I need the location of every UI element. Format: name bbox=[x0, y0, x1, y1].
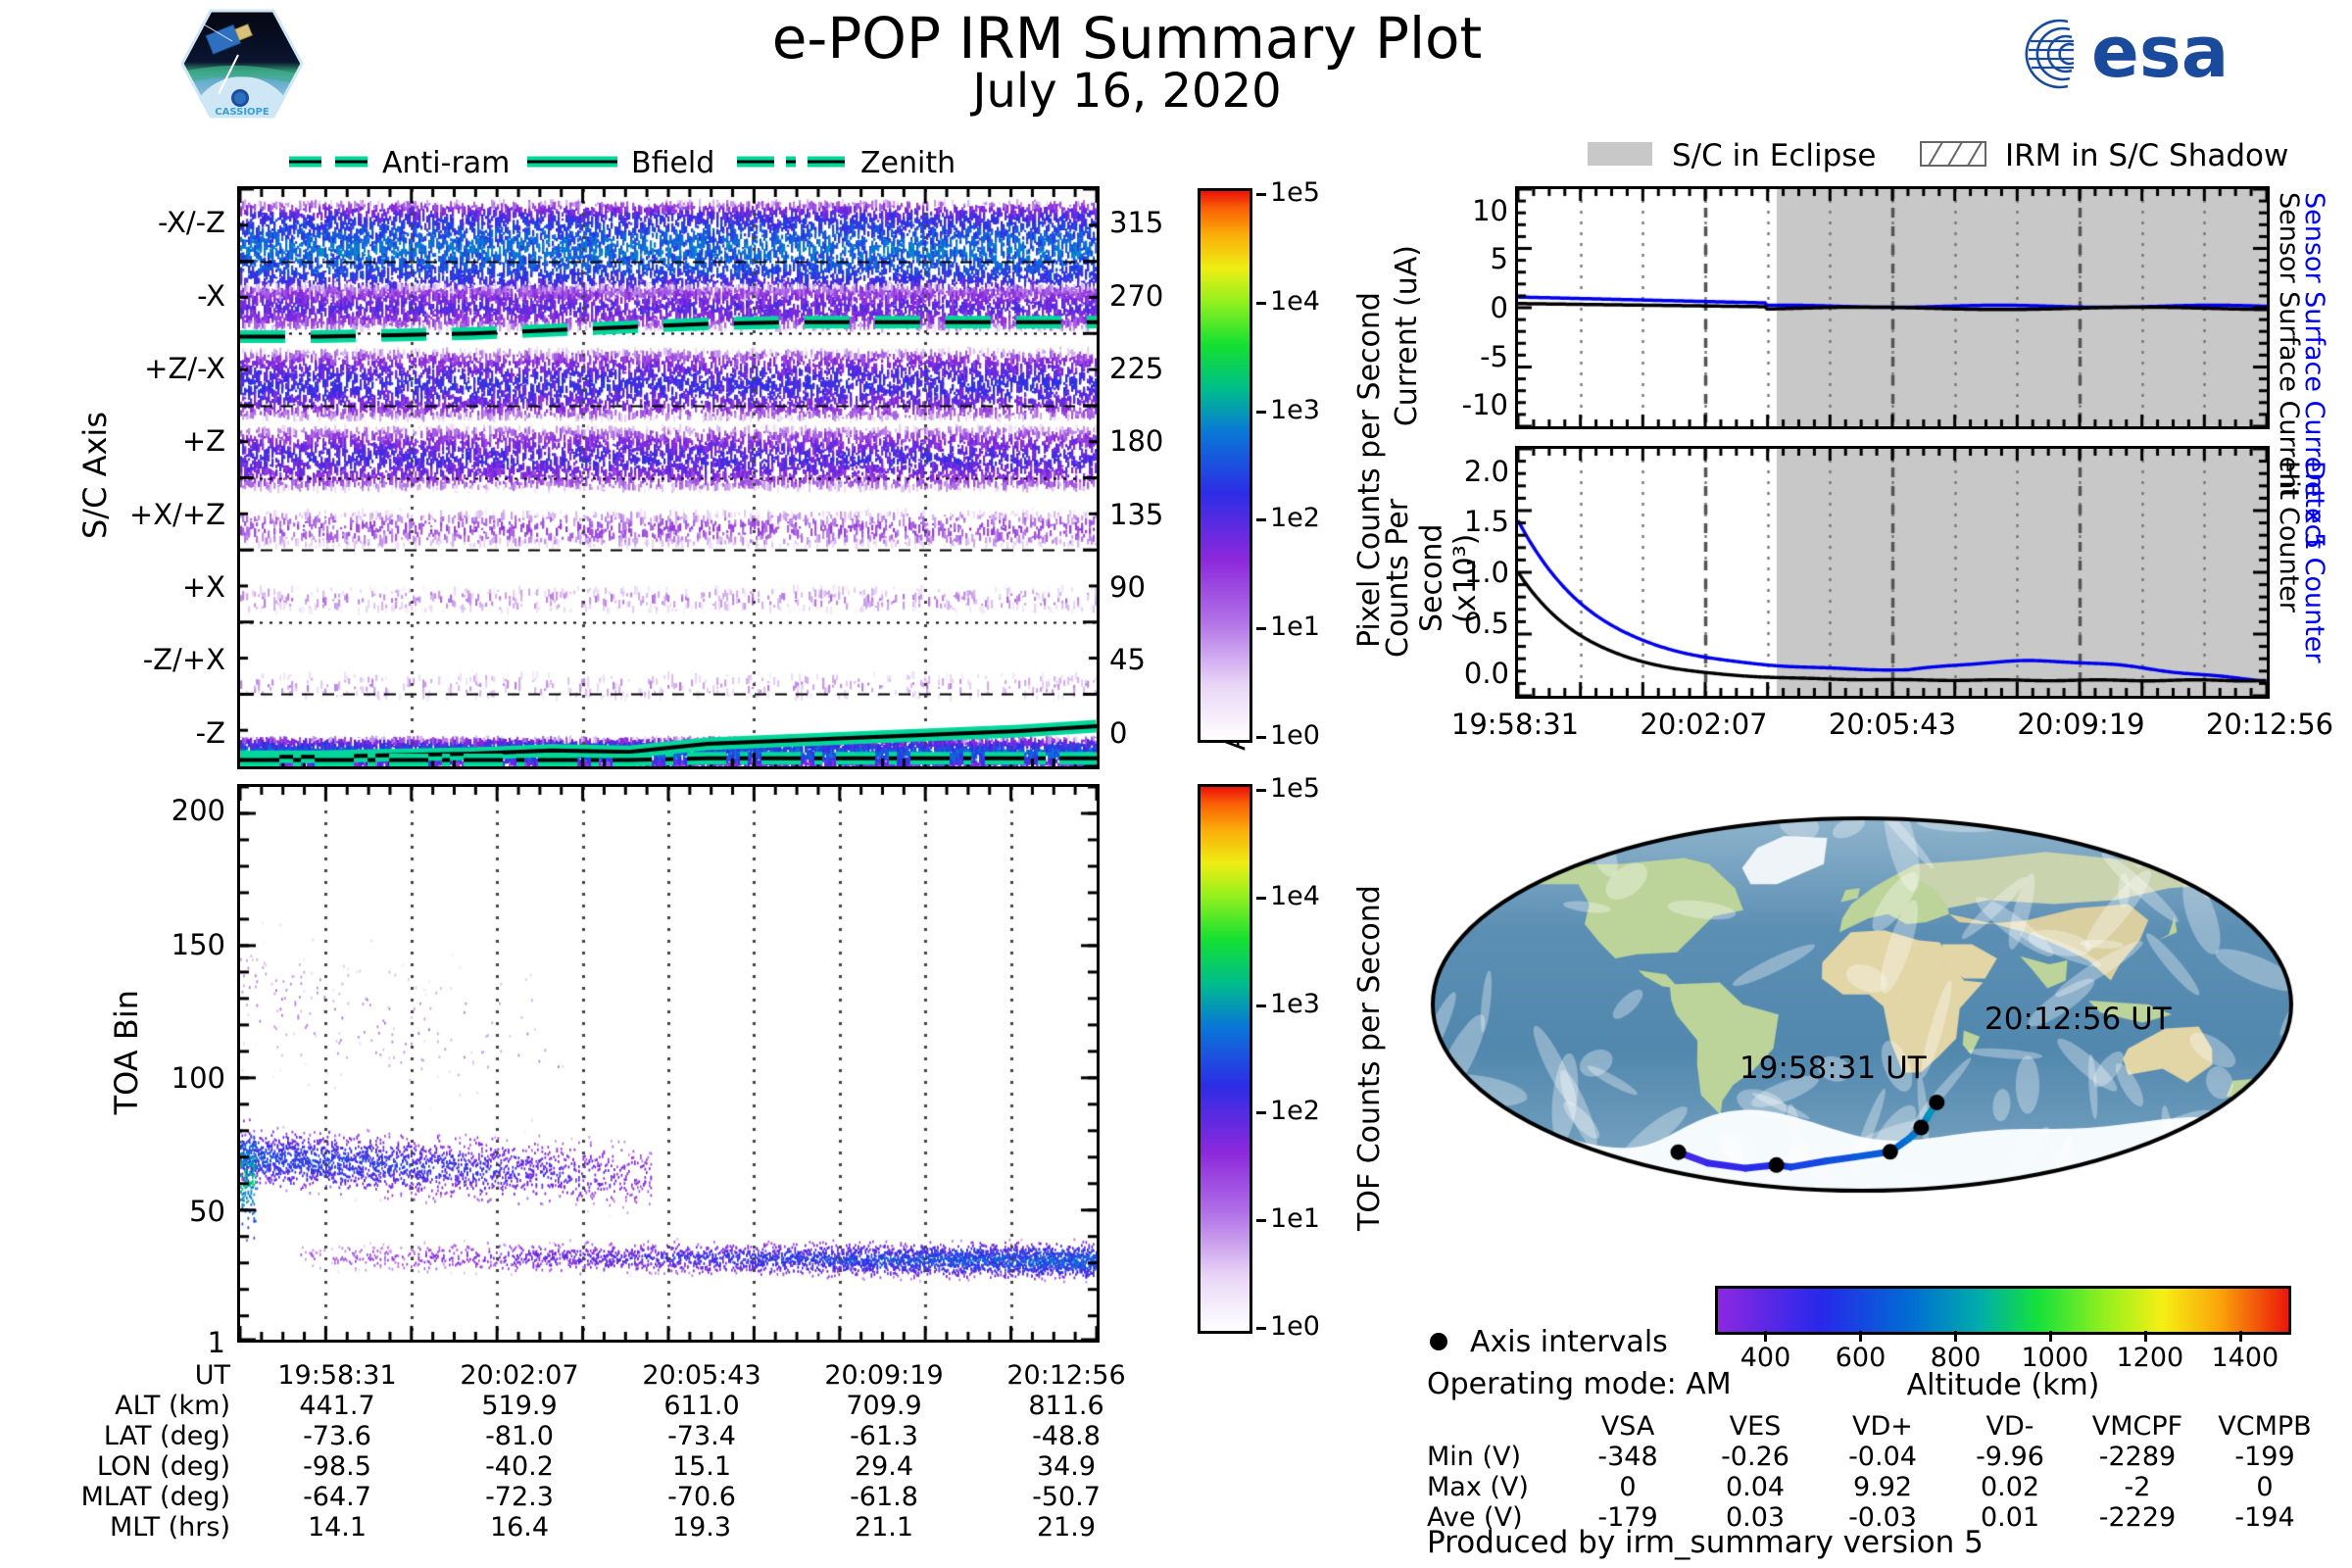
toa-ytick-label: 1 bbox=[137, 1326, 225, 1359]
ephemeris-cell: 709.9 bbox=[793, 1391, 975, 1421]
tof-counts-colorbar-gradient bbox=[1198, 784, 1252, 1334]
ephemeris-cell: 519.9 bbox=[428, 1391, 611, 1421]
colorbar-tick: 1e4 bbox=[1270, 286, 1320, 317]
toa-bin-panel[interactable] bbox=[237, 784, 1100, 1343]
ephemeris-cell: 34.9 bbox=[975, 1451, 1157, 1482]
counts-xtick-label: 20:12:56 bbox=[2181, 708, 2352, 741]
toa-bin-canvas bbox=[240, 787, 1097, 1340]
colorbar-tick: 1e2 bbox=[1270, 1096, 1320, 1126]
ephemeris-row-label: LON (deg) bbox=[54, 1451, 246, 1482]
ephemeris-cell: 29.4 bbox=[793, 1451, 975, 1482]
table-row: LON (deg)-98.5-40.215.129.434.9 bbox=[54, 1451, 1157, 1482]
esa-logo: esa bbox=[2019, 10, 2332, 98]
voltage-cell: -348 bbox=[1564, 1442, 1691, 1472]
ephemeris-row-label: UT bbox=[54, 1360, 246, 1391]
operating-mode-label: Operating mode: AM bbox=[1427, 1367, 1732, 1401]
current-panel-ylabel: Current (uA) bbox=[1390, 245, 1424, 426]
voltage-column-header: VES bbox=[1691, 1411, 1819, 1442]
voltage-cell: -2289 bbox=[2074, 1442, 2201, 1472]
ephemeris-cell: 20:05:43 bbox=[611, 1360, 793, 1391]
ephemeris-row-label: MLT (hrs) bbox=[54, 1512, 246, 1543]
counts-right-label-black: Hit Counter bbox=[2274, 461, 2304, 612]
pixel-counts-colorbar-ticks: 1e51e41e31e21e11e0 bbox=[1256, 188, 1354, 743]
angle-ytick-label-left: -Z/+X bbox=[108, 643, 225, 676]
current-right-label-black: Sensor Surface Current bbox=[2274, 192, 2304, 500]
current-ytick-label: 10 bbox=[1426, 194, 1508, 227]
mission-logo: CASSIOPE bbox=[179, 8, 305, 121]
altitude-tick-mark bbox=[2239, 1331, 2242, 1342]
colorbar-tick: 1e4 bbox=[1270, 881, 1320, 911]
counts-ytick-label: 1.0 bbox=[1421, 556, 1509, 589]
ephemeris-cell: -81.0 bbox=[428, 1421, 611, 1451]
colorbar-tick-mark bbox=[1256, 411, 1266, 414]
angle-ytick-label-left: -X bbox=[108, 279, 225, 313]
colorbar-tick: 1e3 bbox=[1270, 395, 1320, 425]
page-subtitle-date: July 16, 2020 bbox=[686, 64, 1568, 119]
ephemeris-cell: -98.5 bbox=[246, 1451, 428, 1482]
shadow-swatch bbox=[1921, 142, 1985, 166]
voltage-cell: -2229 bbox=[2074, 1502, 2201, 1533]
voltage-cell: 0 bbox=[2201, 1472, 2328, 1502]
current-panel-ytick-labels: 1050-5-10 bbox=[1426, 186, 1508, 429]
voltage-column-header: VD- bbox=[1946, 1411, 2074, 1442]
ephemeris-cell: -64.7 bbox=[246, 1482, 428, 1512]
current-ytick-label: 5 bbox=[1426, 242, 1508, 275]
ephemeris-cell: 19.3 bbox=[611, 1512, 793, 1543]
colorbar-tick-mark bbox=[1256, 302, 1266, 305]
colorbar-tick-mark bbox=[1256, 1219, 1266, 1222]
ephemeris-cell: -40.2 bbox=[428, 1451, 611, 1482]
colorbar-tick-mark bbox=[1256, 1327, 1266, 1330]
ephemeris-cell: 611.0 bbox=[611, 1391, 793, 1421]
ephemeris-table: UT19:58:3120:02:0720:05:4320:09:1920:12:… bbox=[54, 1360, 1157, 1543]
voltage-column-header: VSA bbox=[1564, 1411, 1691, 1442]
voltage-column-header: VCMPB bbox=[2201, 1411, 2328, 1442]
angle-spectrogram-panel[interactable] bbox=[237, 186, 1100, 769]
ephemeris-cell: 14.1 bbox=[246, 1512, 428, 1543]
counts-ytick-label: 0.5 bbox=[1421, 607, 1509, 640]
voltage-column-header: VD+ bbox=[1819, 1411, 1946, 1442]
tof-counts-colorbar-ticks: 1e51e41e31e21e11e0 bbox=[1256, 784, 1354, 1334]
voltage-cell: -194 bbox=[2201, 1502, 2328, 1533]
colorbar-tick: 1e2 bbox=[1270, 503, 1320, 533]
table-row: ALT (km)441.7519.9611.0709.9811.6 bbox=[54, 1391, 1157, 1421]
counts-panel[interactable] bbox=[1515, 446, 2270, 699]
toa-panel-ytick-labels: 200150100501 bbox=[137, 784, 225, 1343]
ephemeris-cell: -50.7 bbox=[975, 1482, 1157, 1512]
ephemeris-cell: -70.6 bbox=[611, 1482, 793, 1512]
altitude-tick-mark bbox=[2144, 1331, 2147, 1342]
colorbar-tick-mark bbox=[1256, 789, 1266, 792]
ephemeris-row-label: MLAT (deg) bbox=[54, 1482, 246, 1512]
angle-ytick-label-left: +Z bbox=[108, 424, 225, 458]
produced-by-label: Produced by irm_summary version 5 bbox=[1427, 1525, 1984, 1560]
eclipse-legend: S/C in Eclipse IRM in S/C Shadow bbox=[1588, 137, 2332, 172]
legend-label-anti-ram: Anti-ram bbox=[382, 146, 510, 178]
colorbar-tick-mark bbox=[1256, 1111, 1266, 1114]
voltage-summary-table: VSAVESVD+VD-VMCPFVCMPBMin (V)-348-0.26-0… bbox=[1427, 1411, 2328, 1533]
voltage-cell: 0.04 bbox=[1691, 1472, 1819, 1502]
ephemeris-cell: -73.4 bbox=[611, 1421, 793, 1451]
colorbar-tick: 1e5 bbox=[1270, 773, 1320, 804]
table-header-row: VSAVESVD+VD-VMCPFVCMPB bbox=[1427, 1411, 2328, 1442]
current-ytick-label: -5 bbox=[1426, 340, 1508, 373]
voltage-cell: -9.96 bbox=[1946, 1442, 2074, 1472]
map-end-label: 20:12:56 UT bbox=[1984, 1002, 2172, 1037]
ephemeris-cell: -73.6 bbox=[246, 1421, 428, 1451]
colorbar-tick-mark bbox=[1256, 627, 1266, 630]
table-row: UT19:58:3120:02:0720:05:4320:09:1920:12:… bbox=[54, 1360, 1157, 1391]
voltage-cell: -0.26 bbox=[1691, 1442, 1819, 1472]
tof-counts-colorbar-label: TOF Counts per Second bbox=[1352, 794, 1387, 1323]
toa-ytick-label: 50 bbox=[137, 1195, 225, 1228]
altitude-tick-mark bbox=[1954, 1331, 1957, 1342]
ephemeris-cell: 19:58:31 bbox=[246, 1360, 428, 1391]
ephemeris-cell: 811.6 bbox=[975, 1391, 1157, 1421]
ephemeris-cell: -61.8 bbox=[793, 1482, 975, 1512]
counts-ytick-label: 1.5 bbox=[1421, 505, 1509, 538]
voltage-row-label: Max (V) bbox=[1427, 1472, 1564, 1502]
ephemeris-row-label: LAT (deg) bbox=[54, 1421, 246, 1451]
voltage-cell: 0.02 bbox=[1946, 1472, 2074, 1502]
altitude-colorbar-label: Altitude (km) bbox=[1715, 1368, 2291, 1402]
colorbar-tick-mark bbox=[1256, 1004, 1266, 1007]
angle-panel-legend: Anti-ram Bfield Zenith bbox=[284, 145, 970, 178]
ephemeris-cell: 21.1 bbox=[793, 1512, 975, 1543]
ephemeris-cell: 20:09:19 bbox=[793, 1360, 975, 1391]
ephemeris-cell: 20:12:56 bbox=[975, 1360, 1157, 1391]
table-row: Max (V)00.049.920.02-20 bbox=[1427, 1472, 2328, 1502]
ground-track-map[interactable]: 19:58:31 UT 20:12:56 UT bbox=[1421, 784, 2303, 1264]
toa-ytick-label: 200 bbox=[137, 794, 225, 827]
angle-ytick-label-left: +X/+Z bbox=[108, 498, 225, 531]
counts-xtick-label: 20:02:07 bbox=[1616, 708, 1792, 741]
angle-spectrogram-canvas bbox=[240, 189, 1097, 766]
colorbar-tick: 1e5 bbox=[1270, 177, 1320, 208]
angle-ytick-label-left: +Z/-X bbox=[108, 352, 225, 385]
current-canvas bbox=[1518, 189, 2267, 426]
colorbar-tick-mark bbox=[1256, 736, 1266, 739]
current-ytick-label: -10 bbox=[1426, 388, 1508, 421]
colorbar-tick: 1e0 bbox=[1270, 1311, 1320, 1342]
voltage-column-header: VMCPF bbox=[2074, 1411, 2201, 1442]
axis-interval-dot-icon bbox=[1430, 1333, 1447, 1350]
table-row: LAT (deg)-73.6-81.0-73.4-61.3-48.8 bbox=[54, 1421, 1157, 1451]
eclipse-swatch bbox=[1588, 142, 1652, 166]
ephemeris-cell: 441.7 bbox=[246, 1391, 428, 1421]
altitude-tick-mark bbox=[1859, 1331, 1862, 1342]
current-ytick-label: 0 bbox=[1426, 291, 1508, 324]
legend-label-zenith: Zenith bbox=[860, 146, 955, 178]
counts-xtick-label: 20:05:43 bbox=[1804, 708, 1981, 741]
altitude-tick-mark bbox=[1764, 1331, 1767, 1342]
table-row: Min (V)-348-0.26-0.04-9.96-2289-199 bbox=[1427, 1442, 2328, 1472]
altitude-colorbar-ticks: 400600800100012001400 bbox=[1715, 1331, 2291, 1366]
angle-panel-ytick-labels-left: -X/-Z-X+Z/-X+Z+X/+Z+X-Z/+X-Z bbox=[108, 186, 225, 769]
voltage-row-label: Min (V) bbox=[1427, 1442, 1564, 1472]
ephemeris-cell: 15.1 bbox=[611, 1451, 793, 1482]
counts-panel-ytick-labels: 2.01.51.00.50.0 bbox=[1421, 446, 1509, 699]
table-row: MLAT (deg)-64.7-72.3-70.6-61.8-50.7 bbox=[54, 1482, 1157, 1512]
colorbar-tick: 1e1 bbox=[1270, 1203, 1320, 1234]
voltage-cell: 9.92 bbox=[1819, 1472, 1946, 1502]
voltage-cell: -199 bbox=[2201, 1442, 2328, 1472]
altitude-tick-mark bbox=[2049, 1331, 2052, 1342]
ephemeris-cell: 20:02:07 bbox=[428, 1360, 611, 1391]
esa-logo-text: esa bbox=[2091, 11, 2229, 93]
mission-logo-text: CASSIOPE bbox=[215, 107, 269, 118]
legend-label-shadow: IRM in S/C Shadow bbox=[2005, 138, 2288, 172]
ephemeris-cell: -48.8 bbox=[975, 1421, 1157, 1451]
legend-label-bfield: Bfield bbox=[631, 146, 714, 178]
ephemeris-cell: -72.3 bbox=[428, 1482, 611, 1512]
ephemeris-cell: -61.3 bbox=[793, 1421, 975, 1451]
voltage-cell: -0.04 bbox=[1819, 1442, 1946, 1472]
legend-label-eclipse: S/C in Eclipse bbox=[1672, 138, 1877, 172]
current-panel[interactable] bbox=[1515, 186, 2270, 429]
counts-panel-xtick-labels: 19:58:3120:02:0720:05:4320:09:1920:12:56 bbox=[1515, 708, 2270, 743]
counts-ytick-label: 0.0 bbox=[1421, 657, 1509, 690]
page-title: e-POP IRM Summary Plot bbox=[686, 5, 1568, 72]
counts-xtick-label: 20:09:19 bbox=[1993, 708, 2170, 741]
colorbar-tick-mark bbox=[1256, 518, 1266, 521]
ephemeris-row-label: ALT (km) bbox=[54, 1391, 246, 1421]
angle-ytick-label-left: -X/-Z bbox=[108, 206, 225, 239]
counts-ytick-label: 2.0 bbox=[1421, 455, 1509, 488]
counts-xtick-label: 19:58:31 bbox=[1427, 708, 1603, 741]
angle-ytick-label-left: -Z bbox=[108, 716, 225, 750]
counts-canvas bbox=[1518, 449, 2267, 696]
voltage-cell: -2 bbox=[2074, 1472, 2201, 1502]
ephemeris-cell: 21.9 bbox=[975, 1512, 1157, 1543]
ephemeris-cell: 16.4 bbox=[428, 1512, 611, 1543]
spacer-cell bbox=[1427, 1411, 1564, 1442]
altitude-colorbar-gradient bbox=[1715, 1286, 2291, 1335]
map-start-label: 19:58:31 UT bbox=[1739, 1051, 1927, 1086]
toa-ytick-label: 150 bbox=[137, 928, 225, 961]
colorbar-tick: 1e0 bbox=[1270, 720, 1320, 751]
colorbar-tick-mark bbox=[1256, 897, 1266, 900]
colorbar-tick: 1e1 bbox=[1270, 612, 1320, 642]
voltage-cell: 0 bbox=[1564, 1472, 1691, 1502]
map-marker-legend-label: Axis intervals bbox=[1470, 1325, 1668, 1358]
colorbar-tick-mark bbox=[1256, 193, 1266, 196]
toa-ytick-label: 100 bbox=[137, 1061, 225, 1095]
pixel-counts-colorbar-gradient bbox=[1198, 188, 1252, 743]
table-row: MLT (hrs)14.116.419.321.121.9 bbox=[54, 1512, 1157, 1543]
angle-ytick-label-left: +X bbox=[108, 570, 225, 604]
colorbar-tick: 1e3 bbox=[1270, 989, 1320, 1019]
